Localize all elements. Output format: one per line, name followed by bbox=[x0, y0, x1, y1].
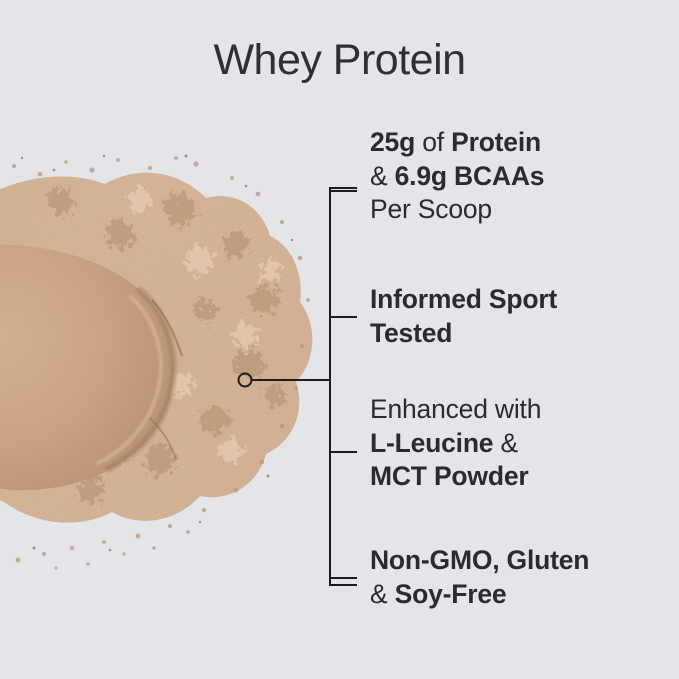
feature-line: Enhanced with bbox=[370, 393, 670, 427]
page-title: Whey Protein bbox=[0, 34, 679, 86]
feature-item-non-gmo: Non-GMO, Gluten & Soy-Free bbox=[370, 544, 670, 611]
feature-line: 25g of Protein bbox=[370, 126, 670, 160]
feature-line: Per Scoop bbox=[370, 193, 670, 227]
feature-item-informed-sport: Informed Sport Tested bbox=[370, 283, 670, 350]
feature-line: & Soy-Free bbox=[370, 578, 670, 612]
feature-line: & 6.9g BCAAs bbox=[370, 160, 670, 194]
powder-illustration bbox=[0, 150, 330, 610]
feature-item-leucine-mct: Enhanced with L-Leucine & MCT Powder bbox=[370, 393, 670, 494]
product-infographic: Whey Protein bbox=[0, 0, 679, 679]
product-powder-image bbox=[0, 150, 330, 610]
feature-line: Non-GMO, Gluten bbox=[370, 544, 670, 578]
feature-line: MCT Powder bbox=[370, 460, 670, 494]
feature-line: L-Leucine & bbox=[370, 427, 670, 461]
feature-line: Informed Sport bbox=[370, 283, 670, 317]
feature-item-protein-bcaa: 25g of Protein & 6.9g BCAAs Per Scoop bbox=[370, 126, 670, 227]
feature-line: Tested bbox=[370, 317, 670, 351]
